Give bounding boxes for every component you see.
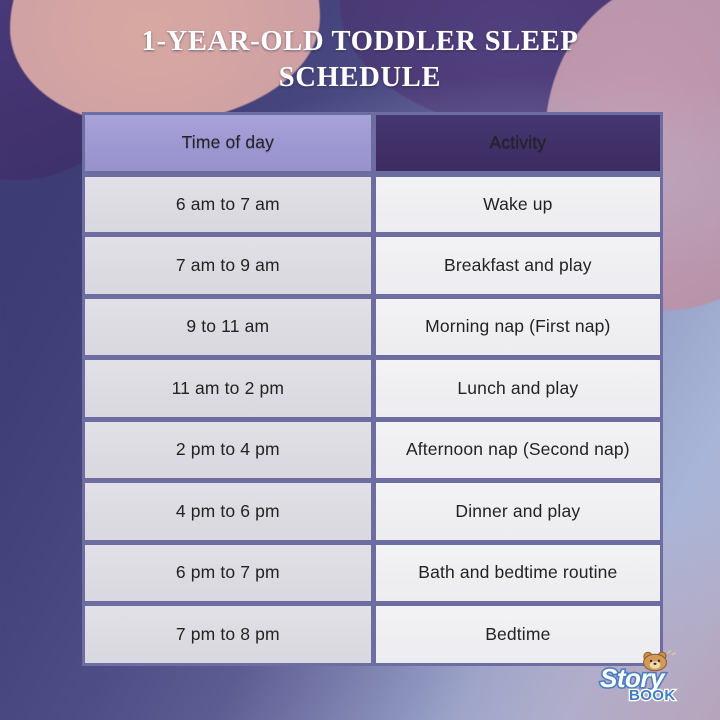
logo-word-bottom: BOOK [629,687,676,704]
cell-activity: Wake up [374,174,663,236]
table-row: 6 am to 7 am Wake up [82,174,663,236]
cell-activity: Afternoon nap (Second nap) [374,420,663,482]
table-body: 6 am to 7 am Wake up 7 am to 9 am Breakf… [82,174,663,666]
table-row: 7 pm to 8 pm Bedtime [82,604,663,666]
column-header-activity: Activity [374,112,663,174]
cell-time: 4 pm to 6 pm [82,481,374,543]
cell-time: 6 pm to 7 pm [82,543,374,605]
cell-time: 11 am to 2 pm [82,358,374,420]
table-header-row: Time of day Activity [82,112,663,174]
table-row: 6 pm to 7 pm Bath and bedtime routine [82,543,663,605]
cell-time: 9 to 11 am [82,297,374,359]
table-row: 7 am to 9 am Breakfast and play [82,235,663,297]
table-header: Time of day Activity [82,112,663,174]
cell-activity: Bath and bedtime routine [374,543,663,605]
table-row: 2 pm to 4 pm Afternoon nap (Second nap) [82,420,663,482]
page-title: 1-YEAR-OLD TODDLER SLEEP SCHEDULE [0,24,720,97]
table-row: 11 am to 2 pm Lunch and play [82,358,663,420]
storybook-logo: Story BOOK [596,650,704,708]
cell-time: 6 am to 7 am [82,174,374,236]
table-row: 9 to 11 am Morning nap (First nap) [82,297,663,359]
cell-time: 7 am to 9 am [82,235,374,297]
cell-activity: Lunch and play [374,358,663,420]
cell-time: 7 pm to 8 pm [82,604,374,666]
cell-activity: Morning nap (First nap) [374,297,663,359]
cell-activity: Dinner and play [374,481,663,543]
sleep-schedule-table: Time of day Activity 6 am to 7 am Wake u… [82,112,663,666]
column-header-time-of-day: Time of day [82,112,374,174]
cell-time: 2 pm to 4 pm [82,420,374,482]
table-row: 4 pm to 6 pm Dinner and play [82,481,663,543]
cell-activity: Breakfast and play [374,235,663,297]
